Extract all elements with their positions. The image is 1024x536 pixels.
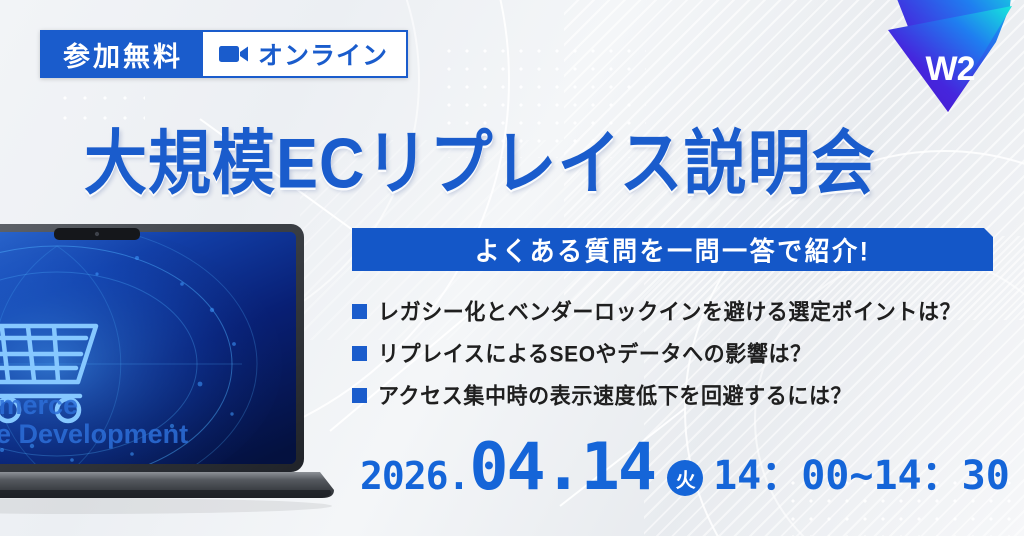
w2-logo[interactable]: W2 [878, 0, 1014, 124]
list-item-label: アクセス集中時の表示速度低下を回避するには？ [378, 379, 852, 411]
day-of-week-badge: 火 [667, 460, 703, 496]
list-item-label: レガシー化とベンダーロックインを避ける選定ポイントは？ [378, 295, 961, 327]
subtitle-ribbon: よくある質問を一問一答で紹介! [352, 228, 993, 271]
bullet-square-icon [352, 388, 367, 403]
list-item: レガシー化とベンダーロックインを避ける選定ポイントは？ [352, 296, 961, 326]
page-title: 大規模ECリプレイス説明会 [84, 107, 944, 209]
laptop-screen-content: E-commerce Website Development [0, 224, 296, 504]
online-badge: オンライン [203, 30, 408, 78]
laptop-image: E-commerce Website Development [0, 214, 352, 514]
topic-list: レガシー化とベンダーロックインを避ける選定ポイントは？ リプレイスによるSEOや… [352, 296, 961, 410]
event-datetime: 2026. 04.14 火 14：00~14：30 [360, 437, 1010, 501]
seminar-banner: W2 参加無料 オンライン 大規模ECリプレイス説明会 よくある質問を一問一答で… [0, 0, 1024, 536]
list-item-label: リプレイスによるSEOやデータへの影響は？ [378, 337, 812, 369]
logo-text: W2 [926, 50, 975, 88]
free-admission-badge: 参加無料 [40, 30, 203, 78]
video-camera-icon [219, 44, 249, 64]
event-month-day: 04.14 [469, 437, 655, 499]
list-item: リプレイスによるSEOやデータへの影響は？ [352, 338, 961, 368]
bullet-square-icon [352, 304, 367, 319]
bullet-square-icon [352, 346, 367, 361]
laptop-screen-line1: E-commerce [0, 390, 78, 420]
list-item: アクセス集中時の表示速度低下を回避するには？ [352, 380, 961, 410]
event-time: 14：00~14：30 [713, 443, 1010, 501]
badge-group: 参加無料 オンライン [40, 30, 408, 78]
event-year: 2026. [360, 454, 469, 498]
free-admission-label: 参加無料 [63, 35, 183, 74]
online-label: オンライン [258, 36, 388, 72]
laptop-screen-line2: Website Development [0, 419, 188, 449]
subtitle-ribbon-label: よくある質問を一問一答で紹介! [475, 230, 871, 268]
